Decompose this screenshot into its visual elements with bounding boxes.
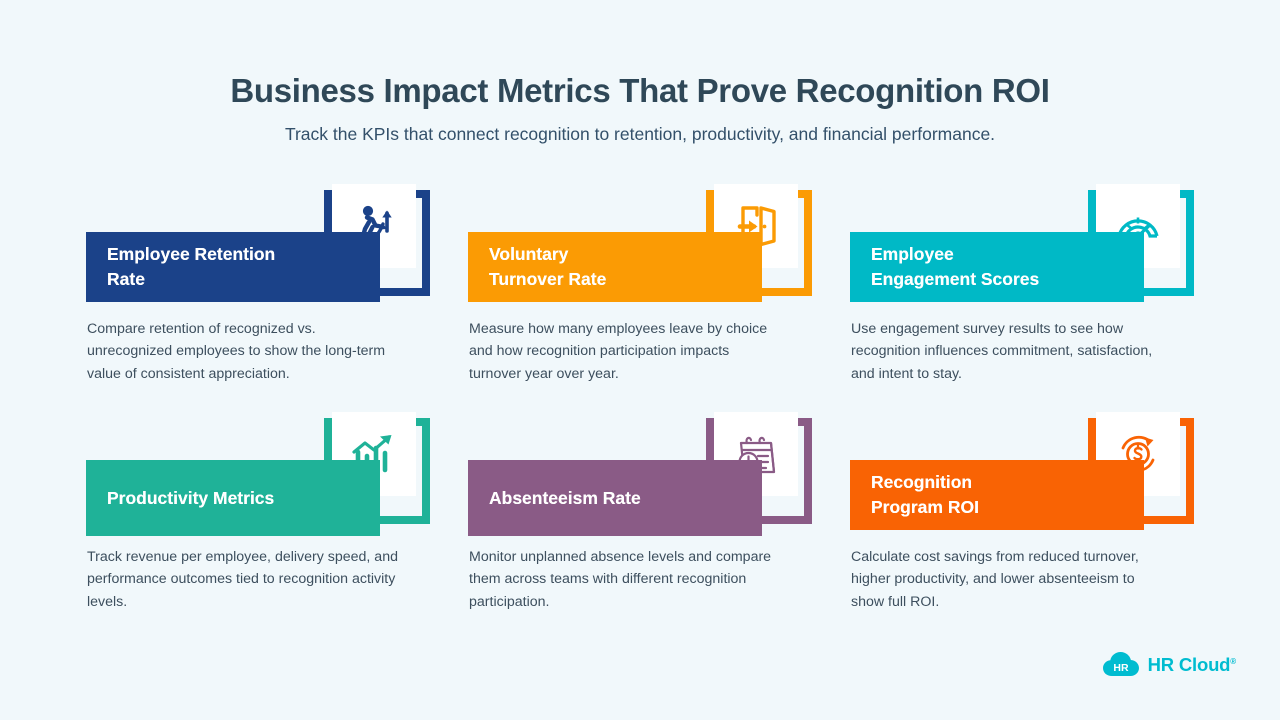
card-header-bar: Recognition Program ROI (850, 460, 1144, 530)
infographic-page: Business Impact Metrics That Prove Recog… (0, 0, 1280, 720)
metric-card-employee-retention-rate[interactable]: Employee Retention Rate Compare retentio… (86, 190, 430, 390)
card-title: Recognition Program ROI (871, 470, 979, 520)
metric-card-voluntary-turnover-rate[interactable]: Voluntary Turnover Rate Measure how many… (468, 190, 812, 390)
card-title: Employee Retention Rate (107, 242, 275, 292)
metric-card-absenteeism-rate[interactable]: Absenteeism Rate Monitor unplanned absen… (468, 418, 812, 618)
page-title: Business Impact Metrics That Prove Recog… (0, 72, 1280, 111)
card-title: Voluntary Turnover Rate (489, 242, 606, 292)
card-title: Productivity Metrics (107, 486, 274, 511)
svg-text:HR: HR (1113, 662, 1129, 674)
metrics-grid: Employee Retention Rate Compare retentio… (86, 190, 1194, 618)
cloud-badge-icon: HR (1103, 652, 1139, 678)
card-description: Use engagement survey results to see how… (851, 318, 1163, 385)
metric-card-recognition-program-roi[interactable]: Recognition Program ROI Calculate cost s… (850, 418, 1194, 618)
card-header-bar: Productivity Metrics (86, 460, 380, 536)
hr-cloud-logo: HR HR Cloud® (1103, 652, 1236, 678)
metric-card-employee-engagement-scores[interactable]: Employee Engagement Scores Use engagemen… (850, 190, 1194, 390)
card-description: Compare retention of recognized vs. unre… (87, 318, 399, 385)
card-header-bar: Employee Retention Rate (86, 232, 380, 302)
page-subtitle: Track the KPIs that connect recognition … (0, 123, 1280, 146)
card-title: Absenteeism Rate (489, 486, 641, 511)
card-description: Calculate cost savings from reduced turn… (851, 546, 1163, 613)
header: Business Impact Metrics That Prove Recog… (0, 0, 1280, 146)
card-description: Measure how many employees leave by choi… (469, 318, 781, 385)
card-description: Monitor unplanned absence levels and com… (469, 546, 781, 613)
logo-name: HR Cloud (1148, 654, 1231, 675)
card-description: Track revenue per employee, delivery spe… (87, 546, 399, 613)
registered-mark: ® (1230, 657, 1236, 666)
metric-card-productivity-metrics[interactable]: Productivity Metrics Track revenue per e… (86, 418, 430, 618)
card-header-bar: Voluntary Turnover Rate (468, 232, 762, 302)
logo-wordmark: HR Cloud® (1148, 654, 1236, 676)
card-header-bar: Absenteeism Rate (468, 460, 762, 536)
card-title: Employee Engagement Scores (871, 242, 1039, 292)
card-header-bar: Employee Engagement Scores (850, 232, 1144, 302)
